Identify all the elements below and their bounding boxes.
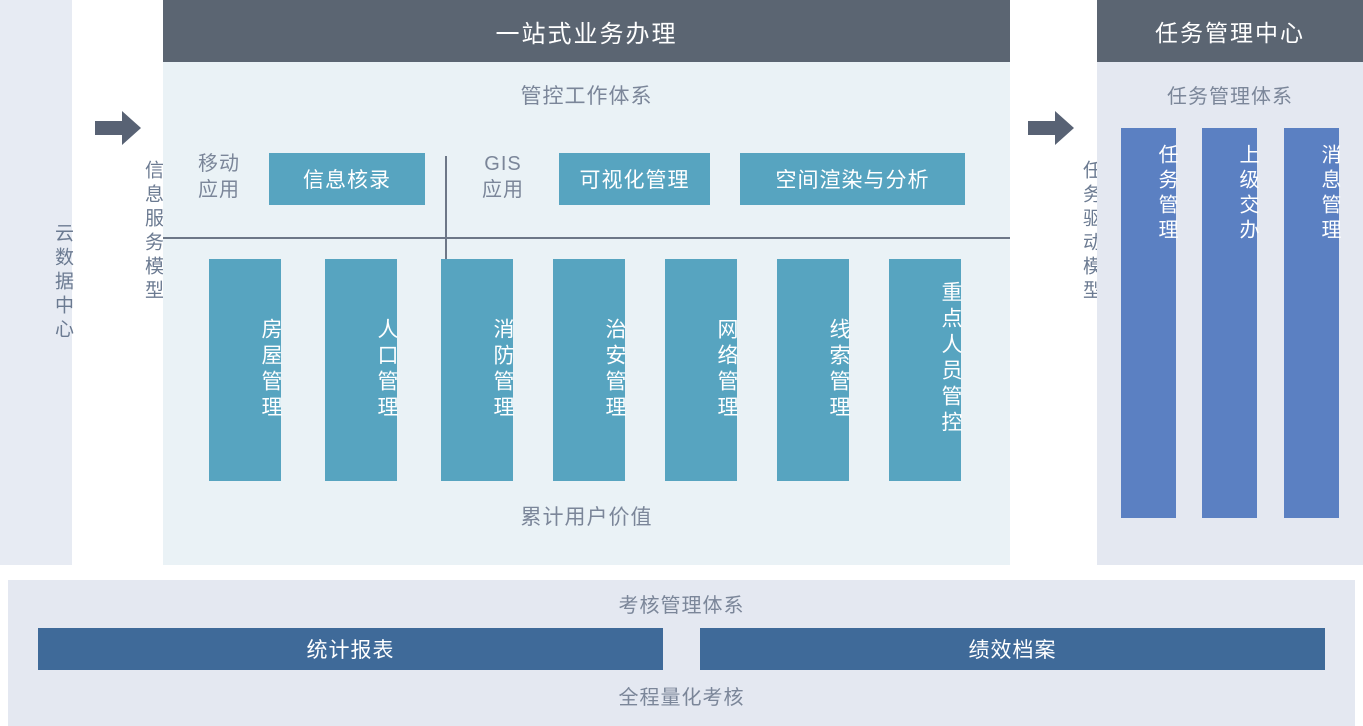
- module-card-label: 网络管理: [665, 318, 737, 422]
- app-button-spatial-rendering-analysis[interactable]: 空间渲染与分析: [740, 153, 965, 205]
- module-card-population[interactable]: 人口管理: [325, 259, 397, 481]
- module-card-label: 线索管理: [777, 318, 849, 422]
- task-management-system-label: 任务管理体系: [1097, 80, 1363, 109]
- arrow-right-icon: [1028, 110, 1074, 146]
- application-section-rule: [163, 237, 1010, 239]
- task-management-center-panel: 任务管理中心 任务管理体系 任务管理 上级交办 消息管理: [1097, 0, 1363, 565]
- cloud-data-center-panel[interactable]: 云数据中心: [0, 0, 72, 565]
- cloud-data-center-label: 云数据中心: [0, 223, 72, 343]
- module-card-label: 重点人员管控: [889, 281, 961, 437]
- task-bar-label: 上级交办: [1202, 144, 1257, 244]
- one-stop-business-panel: 一站式业务办理 管控工作体系 移动 应用 信息核录 GIS 应用 可视化管理: [163, 0, 1010, 565]
- information-service-model-label: 信息服务模型: [72, 160, 162, 304]
- module-card-label: 房屋管理: [209, 318, 281, 422]
- full-process-quantitative-assessment-label: 全程量化考核: [8, 681, 1355, 710]
- module-card-fire-control[interactable]: 消防管理: [441, 259, 513, 481]
- task-bar-superior-assignment[interactable]: 上级交办: [1202, 128, 1257, 518]
- control-work-system-label: 管控工作体系: [163, 80, 1010, 110]
- module-card-public-security[interactable]: 治安管理: [553, 259, 625, 481]
- assessment-management-panel: 考核管理体系 统计报表 绩效档案 全程量化考核: [8, 580, 1355, 726]
- task-bar-label: 任务管理: [1121, 144, 1176, 244]
- module-card-housing[interactable]: 房屋管理: [209, 259, 281, 481]
- task-bar-task-management[interactable]: 任务管理: [1121, 128, 1176, 518]
- module-card-label: 消防管理: [441, 318, 513, 422]
- task-driven-flow: 任务驱动模型: [1010, 0, 1100, 565]
- arrow-right-icon: [95, 110, 141, 146]
- assessment-bar-statistical-report[interactable]: 统计报表: [38, 628, 663, 670]
- task-panel-body: 任务管理体系 任务管理 上级交办 消息管理: [1097, 62, 1363, 565]
- mobile-application-label: 移动 应用: [179, 152, 259, 203]
- task-bar-message-management[interactable]: 消息管理: [1284, 128, 1339, 518]
- module-card-clue[interactable]: 线索管理: [777, 259, 849, 481]
- task-driven-model-label: 任务驱动模型: [1010, 160, 1100, 304]
- module-card-network[interactable]: 网络管理: [665, 259, 737, 481]
- main-panel-header: 一站式业务办理: [163, 0, 1010, 62]
- module-card-label: 人口管理: [325, 318, 397, 422]
- information-service-flow: 信息服务模型: [72, 0, 162, 565]
- task-bar-label: 消息管理: [1284, 144, 1339, 244]
- module-card-label: 治安管理: [553, 318, 625, 422]
- diagram-canvas: 云数据中心 信息服务模型 一站式业务办理 管控工作体系 移动 应用: [0, 0, 1363, 726]
- cumulative-user-value-label: 累计用户价值: [163, 501, 1010, 531]
- app-button-visual-management[interactable]: 可视化管理: [559, 153, 710, 205]
- main-panel-body: 管控工作体系 移动 应用 信息核录 GIS 应用 可视化管理 空间渲染与分析: [163, 62, 1010, 565]
- module-card-key-personnel[interactable]: 重点人员管控: [889, 259, 961, 481]
- task-panel-title: 任务管理中心: [1155, 14, 1305, 48]
- main-panel-title: 一站式业务办理: [496, 14, 678, 49]
- app-button-information-entry[interactable]: 信息核录: [269, 153, 425, 205]
- gis-application-label: GIS 应用: [467, 152, 539, 203]
- assessment-bar-performance-record[interactable]: 绩效档案: [700, 628, 1325, 670]
- assessment-management-system-label: 考核管理体系: [8, 589, 1355, 618]
- module-card-row: 房屋管理 人口管理 消防管理 治安管理 网络管理 线索管理 重点: [163, 259, 1010, 481]
- application-row: 移动 应用 信息核录 GIS 应用 可视化管理 空间渲染与分析: [163, 118, 1010, 238]
- task-panel-header: 任务管理中心: [1097, 0, 1363, 62]
